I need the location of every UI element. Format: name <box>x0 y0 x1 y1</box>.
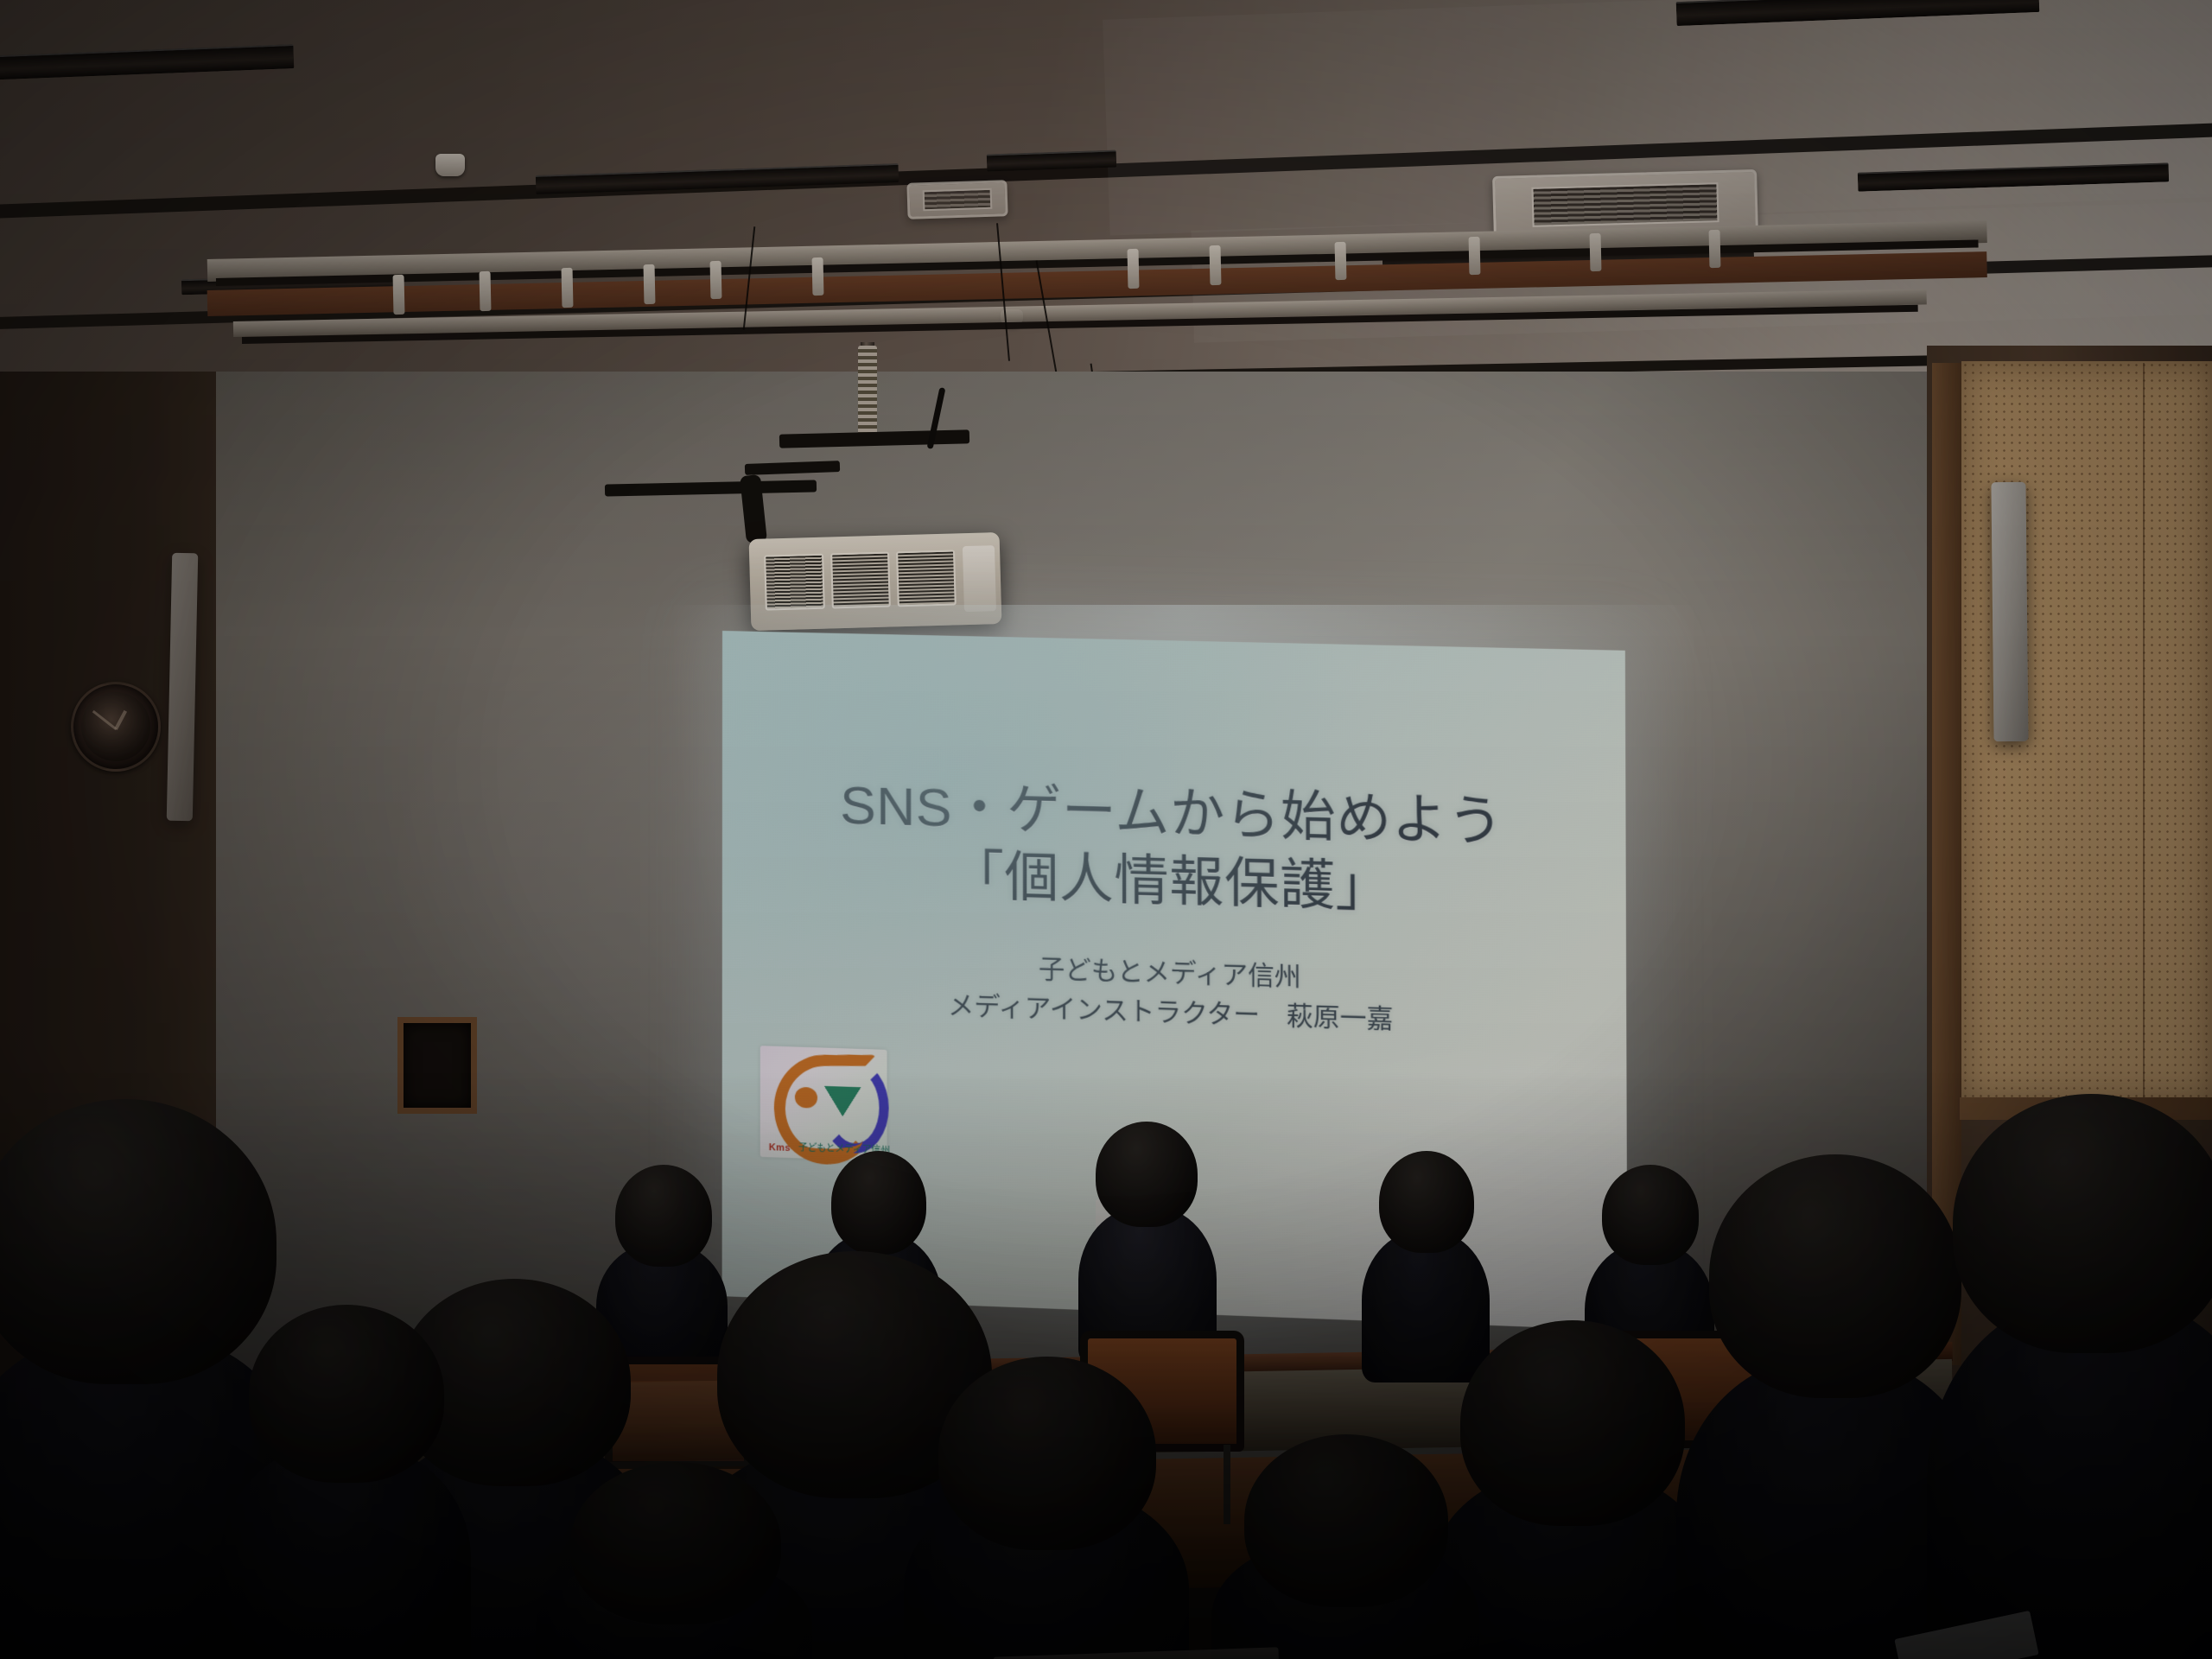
ac-grille <box>923 188 992 212</box>
curtain-hook <box>1469 237 1481 275</box>
ac-grille <box>1531 182 1719 227</box>
wall-niche-panel <box>397 1017 477 1114</box>
curtain-hook <box>644 264 656 304</box>
audience-member-collar <box>1894 1611 2038 1659</box>
projector-lens <box>962 545 996 612</box>
curtain-hook <box>812 257 824 296</box>
acoustic-panel-seam <box>2143 363 2145 1103</box>
wall-switch-plate <box>1728 1262 1749 1291</box>
curtain-hook <box>1210 245 1222 285</box>
slide-content: SNS・ゲームから始めよう 「個人情報保護」 子どもとメディア信州 メディアイン… <box>722 631 1628 1331</box>
wall-switch-plate <box>602 1281 623 1311</box>
slide-logo-row: Kms 子どもとメディア信州 <box>722 1045 1627 1187</box>
presentation-slide: SNS・ゲームから始めよう 「個人情報保護」 子どもとメディア信州 メディアイン… <box>722 631 1628 1331</box>
slide-title: SNS・ゲームから始めよう 「個人情報保護」 <box>840 772 1503 927</box>
column-speaker-right <box>1991 482 2028 741</box>
curtain-hook <box>1590 233 1602 271</box>
curtain-hook <box>562 268 574 308</box>
ceiling-ac-cassette <box>906 180 1007 219</box>
projection-screen: SNS・ゲームから始めよう 「個人情報保護」 子どもとメディア信州 メディアイン… <box>722 631 1628 1331</box>
curtain-hook <box>1709 230 1721 268</box>
logo-head-dot-icon <box>795 1087 817 1109</box>
right-wall-lower-trim <box>1960 1097 2212 1120</box>
slide-subtitle: 子どもとメディア信州 メディアインストラクター 萩原一嘉 <box>948 947 1394 1039</box>
logo-abbreviation: Kms <box>769 1142 791 1154</box>
curtain-hook <box>393 275 405 315</box>
curtain-hook <box>480 271 492 311</box>
photo-scene: SNS・ゲームから始めよう 「個人情報保護」 子どもとメディア信州 メディアイン… <box>0 0 2212 1659</box>
wall-clock <box>71 682 161 772</box>
smoke-detector <box>435 154 465 176</box>
projector-mount-coil <box>858 346 877 437</box>
logo-mountain-icon <box>824 1086 861 1117</box>
curtain-hook <box>710 261 722 299</box>
organization-logo: Kms 子どもとメディア信州 <box>760 1046 887 1161</box>
room: SNS・ゲームから始めよう 「個人情報保護」 子どもとメディア信州 メディアイン… <box>0 0 2212 1659</box>
ceiling-projector <box>749 532 1002 631</box>
desk-surface <box>994 1647 1280 1659</box>
projector-vent-grille <box>764 550 956 611</box>
right-wall-post <box>1932 363 1961 1365</box>
curtain-hook <box>1128 249 1140 289</box>
curtain-hook <box>1335 242 1347 280</box>
